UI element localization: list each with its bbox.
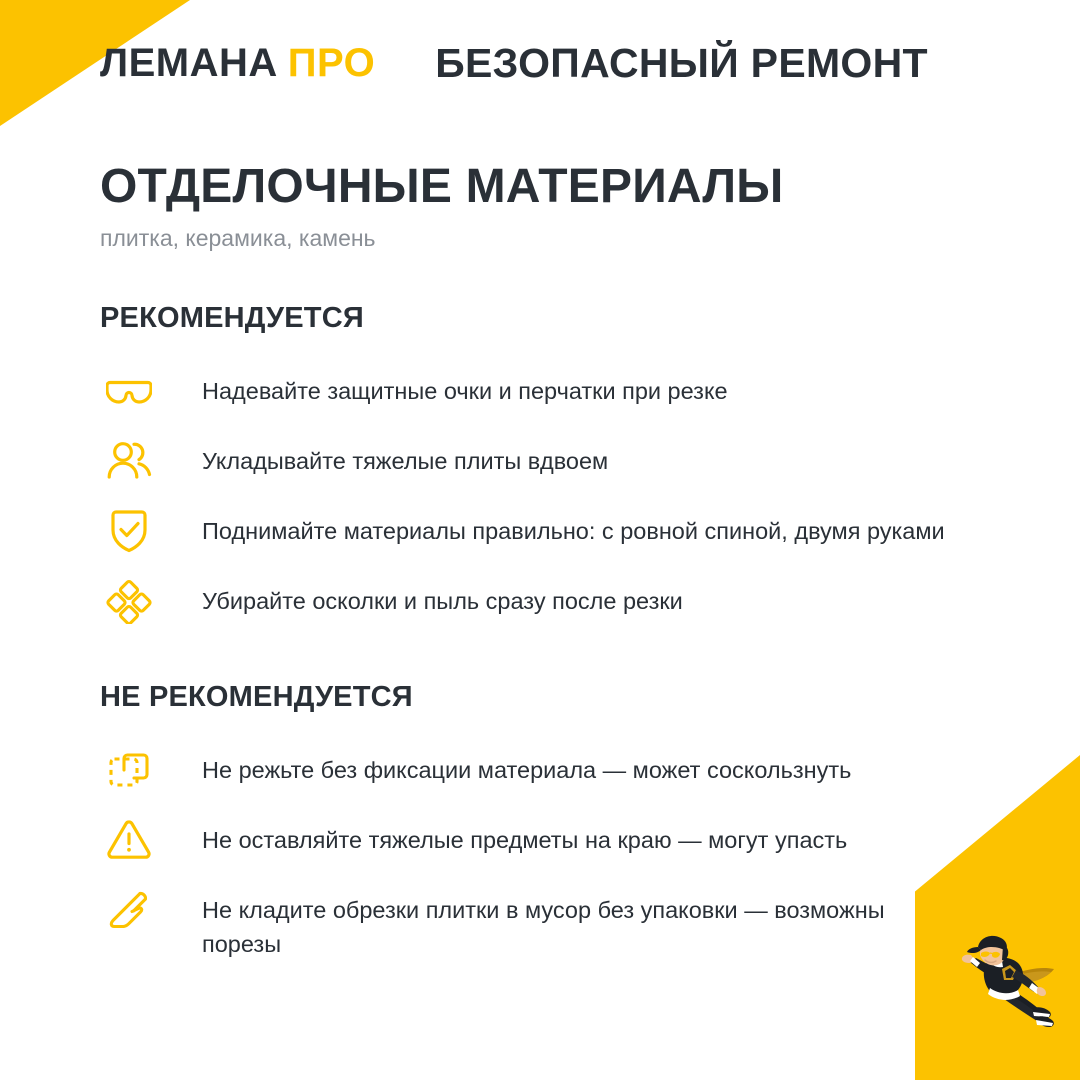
safety-goggles-icon [100,367,158,415]
brand-logo: ЛЕМАНАПРО [100,43,375,83]
poster-body: ОТДЕЛОЧНЫЕ МАТЕРИАЛЫ плитка, керамика, к… [100,162,980,961]
four-diamonds-icon [100,577,158,625]
recommended-list: Надевайте защитные очки и перчатки при р… [100,367,980,625]
list-item-label: Не оставляйте тяжелые предметы на краю —… [202,816,962,857]
list-item: Не оставляйте тяжелые предметы на краю —… [100,816,980,864]
poster-canvas: ЛЕМАНАПРО БЕЗОПАСНЫЙ РЕМОНТ ОТДЕЛОЧНЫЕ М… [0,0,1080,1080]
flying-superhero-worker-illustration [940,930,1065,1045]
unfixed-material-icon [100,746,158,794]
page-subtitle: плитка, керамика, камень [100,225,980,253]
page-title: ОТДЕЛОЧНЫЕ МАТЕРИАЛЫ [100,162,980,213]
campaign-title: БЕЗОПАСНЫЙ РЕМОНТ [435,43,928,84]
list-item: Не режьте без фиксации материала — может… [100,746,980,794]
warning-triangle-icon [100,816,158,864]
list-item-label: Убирайте осколки и пыль сразу после резк… [202,577,962,618]
poster-header: ЛЕМАНАПРО БЕЗОПАСНЫЙ РЕМОНТ [0,0,1080,126]
section-title-not-recommended: НЕ РЕКОМЕНДУЕТСЯ [100,683,980,712]
list-item: Укладывайте тяжелые плиты вдвоем [100,437,980,485]
shield-check-icon [100,507,158,555]
list-item-label: Надевайте защитные очки и перчатки при р… [202,367,962,408]
section-title-recommended: РЕКОМЕНДУЕТСЯ [100,304,980,333]
section-recommended: РЕКОМЕНДУЕТСЯ Надевайте защитные очки и … [100,304,980,625]
list-item: Убирайте осколки и пыль сразу после резк… [100,577,980,625]
list-item-label: Укладывайте тяжелые плиты вдвоем [202,437,962,478]
brand-logo-lemana: ЛЕМАНА [100,41,278,85]
not-recommended-list: Не режьте без фиксации материала — может… [100,746,980,961]
list-item-label: Не кладите обрезки плитки в мусор без уп… [202,886,962,961]
two-people-icon [100,437,158,485]
list-item-label: Поднимайте материалы правильно: с ровной… [202,507,962,548]
list-item: Надевайте защитные очки и перчатки при р… [100,367,980,415]
section-not-recommended: НЕ РЕКОМЕНДУЕТСЯ Не режьте без фиксации … [100,683,980,961]
list-item-label: Не режьте без фиксации материала — может… [202,746,962,787]
brand-logo-pro: ПРО [288,41,376,85]
list-item: Поднимайте материалы правильно: с ровной… [100,507,980,555]
knife-icon [100,886,158,934]
list-item: Не кладите обрезки плитки в мусор без уп… [100,886,980,961]
